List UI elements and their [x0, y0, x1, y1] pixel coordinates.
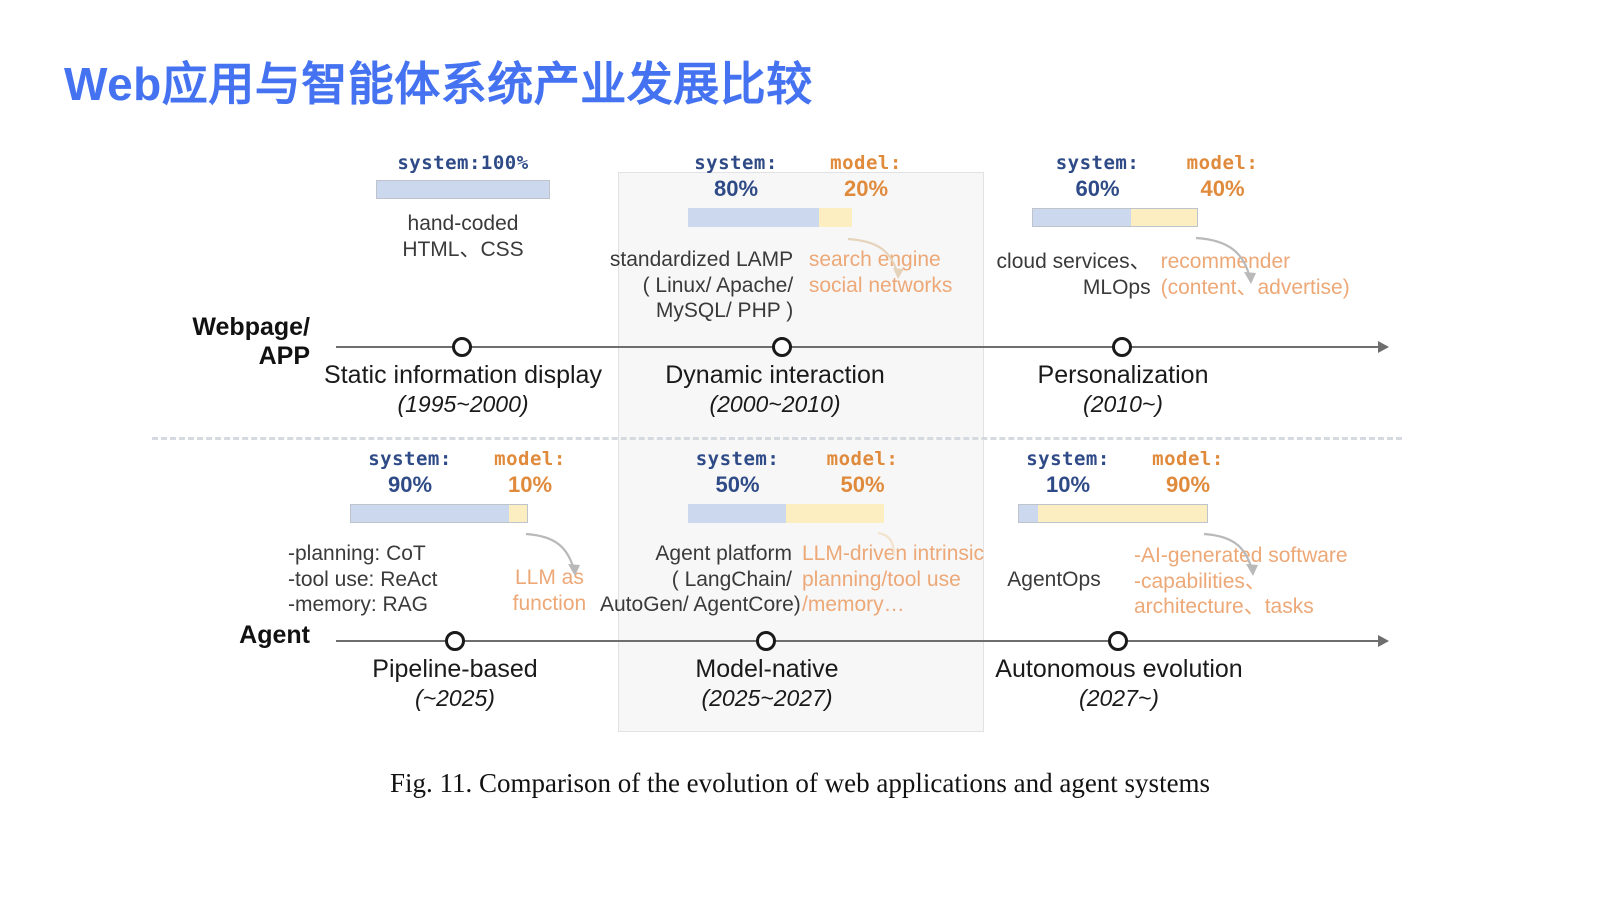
row-divider	[152, 437, 1402, 440]
desc-system-static-line2: HTML、CSS	[402, 237, 523, 263]
timeline-arrow-webpage-icon	[1378, 341, 1389, 353]
bar-system-segment-static	[377, 181, 549, 198]
desc-system-personalization-line1: cloud services、	[980, 249, 1151, 275]
pct-system-autonomous: 10%	[1046, 472, 1090, 497]
ratio-system-label-personalization: system:	[1056, 152, 1140, 174]
desc-model-modelnative: LLM-driven intrinsic planning/tool use /…	[802, 541, 1000, 618]
desc-system-modelnative: Agent platform ( LangChain/ AutoGen/ Age…	[600, 541, 792, 618]
ratio-model-label-personalization: model:	[1187, 152, 1259, 174]
timeline-axis-webpage	[336, 346, 1380, 348]
milestone-name-static: Static information display	[318, 360, 608, 390]
node-marker-pipeline[interactable]	[445, 631, 465, 651]
node-marker-personalization[interactable]	[1112, 337, 1132, 357]
bar-modelnative	[688, 504, 884, 523]
desc-model-pipeline-line1: LLM as	[481, 565, 618, 591]
ratio-label-static: system:100%	[318, 152, 608, 174]
milestone-name-dynamic: Dynamic interaction	[630, 360, 920, 390]
figure-canvas: Webpage/ APP system:100% hand-coded HTML…	[0, 140, 1600, 840]
desc-system-pipeline-line1: -planning: CoT	[288, 541, 471, 567]
milestone-years-autonomous: (2027~)	[974, 684, 1264, 713]
bar-model-segment-personalization	[1131, 209, 1197, 226]
milestone-static-information-display: Static information display (1995~2000)	[318, 360, 608, 419]
bar-autonomous	[1018, 504, 1208, 523]
desc-system-pipeline-line2: -tool use: ReAct	[288, 567, 471, 593]
row-label-agent-line1: Agent	[120, 621, 310, 650]
bar-pipeline	[350, 504, 528, 523]
desc-model-personalization-line1: recommender	[1161, 249, 1370, 275]
pct-model-modelnative: 50%	[840, 472, 884, 497]
pct-model-pipeline: 10%	[508, 472, 552, 497]
node-marker-dynamic[interactable]	[772, 337, 792, 357]
phase-autonomous-evolution: system: model: 10% 90% AgentOps -AI-gene…	[990, 448, 1390, 620]
bar-system-segment-pipeline	[351, 505, 509, 522]
row-label-webpage-line2: APP	[120, 342, 310, 371]
milestone-name-personalization: Personalization	[978, 360, 1268, 390]
milestone-model-native: Model-native (2025~2027)	[622, 654, 912, 713]
pct-model-personalization: 40%	[1200, 176, 1244, 201]
ratio-model-label-modelnative: model:	[827, 448, 899, 470]
desc-model-dynamic-line2: social networks	[809, 273, 996, 299]
desc-model-dynamic-line1: search engine	[809, 247, 996, 273]
ratio-model-label-dynamic: model:	[830, 152, 902, 174]
desc-system-dynamic-line2: ( Linux/ Apache/	[606, 273, 793, 299]
milestone-years-modelnative: (2025~2027)	[622, 684, 912, 713]
bar-system-segment-dynamic	[688, 208, 819, 227]
desc-model-modelnative-line2: planning/tool use	[802, 567, 1000, 593]
pct-system-pipeline: 90%	[388, 472, 432, 497]
desc-model-pipeline-line2: function	[481, 591, 618, 617]
row-label-agent: Agent	[120, 621, 310, 650]
page-title: Web应用与智能体系统产业发展比较	[64, 48, 813, 114]
pct-system-personalization: 60%	[1075, 176, 1119, 201]
desc-system-pipeline: -planning: CoT -tool use: ReAct -memory:…	[288, 541, 471, 618]
phase-model-native: system: model: 50% 50% Agent platform ( …	[600, 448, 1000, 618]
desc-system-autonomous-line1: AgentOps	[990, 567, 1118, 593]
desc-system-dynamic: standardized LAMP ( Linux/ Apache/ MySQL…	[606, 247, 793, 324]
desc-model-autonomous: -AI-generated software -capabilities、 ar…	[1134, 543, 1390, 620]
bar-model-segment-pipeline	[509, 505, 527, 522]
milestone-name-pipeline: Pipeline-based	[310, 654, 600, 684]
desc-system-personalization: cloud services、 MLOps	[980, 249, 1151, 300]
ratio-system-label-autonomous: system:	[1026, 448, 1110, 470]
milestone-pipeline-based: Pipeline-based (~2025)	[310, 654, 600, 713]
row-label-webpage-line1: Webpage/	[120, 313, 310, 342]
desc-system-dynamic-line1: standardized LAMP	[606, 247, 793, 273]
phase-personalization: system: model: 60% 40% cloud services、 M…	[980, 152, 1370, 300]
bar-model-segment-dynamic	[819, 208, 852, 227]
bar-system-segment-autonomous	[1019, 505, 1038, 522]
milestone-name-autonomous: Autonomous evolution	[974, 654, 1264, 684]
ratio-system-label-dynamic: system:	[694, 152, 778, 174]
desc-system-modelnative-line1: Agent platform	[600, 541, 792, 567]
desc-model-modelnative-line1: LLM-driven intrinsic	[802, 541, 1000, 567]
node-marker-modelnative[interactable]	[756, 631, 776, 651]
desc-system-modelnative-line2: ( LangChain/	[600, 567, 792, 593]
desc-model-autonomous-line1: -AI-generated software	[1134, 543, 1390, 569]
desc-system-dynamic-line3: MySQL/ PHP )	[606, 298, 793, 324]
ratio-system-label-pipeline: system:	[368, 448, 452, 470]
desc-model-modelnative-line3: /memory…	[802, 592, 1000, 618]
desc-model-personalization-line2: (content、advertise)	[1161, 275, 1370, 301]
milestone-dynamic-interaction: Dynamic interaction (2000~2010)	[630, 360, 920, 419]
ratio-system-label-static: system:100%	[397, 152, 528, 174]
pct-system-modelnative: 50%	[715, 472, 759, 497]
bar-model-segment-modelnative	[786, 504, 884, 523]
pct-model-autonomous: 90%	[1166, 472, 1210, 497]
phase-pipeline-based: system: model: 90% 10% -planning: CoT -t…	[288, 448, 618, 618]
phase-static-information-display: system:100% hand-coded HTML、CSS	[318, 152, 608, 262]
pct-model-dynamic: 20%	[844, 176, 888, 201]
desc-system-personalization-line2: MLOps	[980, 275, 1151, 301]
desc-model-autonomous-line2: -capabilities、	[1134, 569, 1390, 595]
desc-system-pipeline-line3: -memory: RAG	[288, 592, 471, 618]
pct-system-dynamic: 80%	[714, 176, 758, 201]
bar-model-segment-autonomous	[1038, 505, 1207, 522]
milestone-years-static: (1995~2000)	[318, 390, 608, 419]
ratio-model-label-pipeline: model:	[494, 448, 566, 470]
bar-system-segment-modelnative	[688, 504, 786, 523]
milestone-years-personalization: (2010~)	[978, 390, 1268, 419]
figure-caption: Fig. 11. Comparison of the evolution of …	[0, 768, 1600, 799]
desc-model-pipeline: LLM as function	[481, 565, 618, 618]
milestone-personalization: Personalization (2010~)	[978, 360, 1268, 419]
desc-model-personalization: recommender (content、advertise)	[1161, 249, 1370, 300]
desc-system-autonomous: AgentOps	[990, 567, 1118, 620]
bar-dynamic	[688, 208, 852, 227]
node-marker-static[interactable]	[452, 337, 472, 357]
ratio-system-label-modelnative: system:	[696, 448, 780, 470]
timeline-arrow-agent-icon	[1378, 635, 1389, 647]
milestone-years-pipeline: (~2025)	[310, 684, 600, 713]
milestone-years-dynamic: (2000~2010)	[630, 390, 920, 419]
milestone-autonomous-evolution: Autonomous evolution (2027~)	[974, 654, 1264, 713]
desc-system-modelnative-line3: AutoGen/ AgentCore)	[600, 592, 792, 618]
desc-model-autonomous-line3: architecture、tasks	[1134, 594, 1390, 620]
bar-system-segment-personalization	[1033, 209, 1131, 226]
desc-model-dynamic: search engine social networks	[809, 247, 996, 324]
bar-personalization	[1032, 208, 1198, 227]
phase-dynamic-interaction: system: model: 80% 20% standardized LAMP…	[606, 152, 996, 324]
row-label-webpage: Webpage/ APP	[120, 313, 310, 371]
desc-system-static: hand-coded HTML、CSS	[402, 211, 523, 262]
milestone-name-modelnative: Model-native	[622, 654, 912, 684]
ratio-model-label-autonomous: model:	[1152, 448, 1224, 470]
timeline-axis-agent	[336, 640, 1380, 642]
bar-static	[376, 180, 550, 199]
node-marker-autonomous[interactable]	[1108, 631, 1128, 651]
desc-system-static-line1: hand-coded	[402, 211, 523, 237]
